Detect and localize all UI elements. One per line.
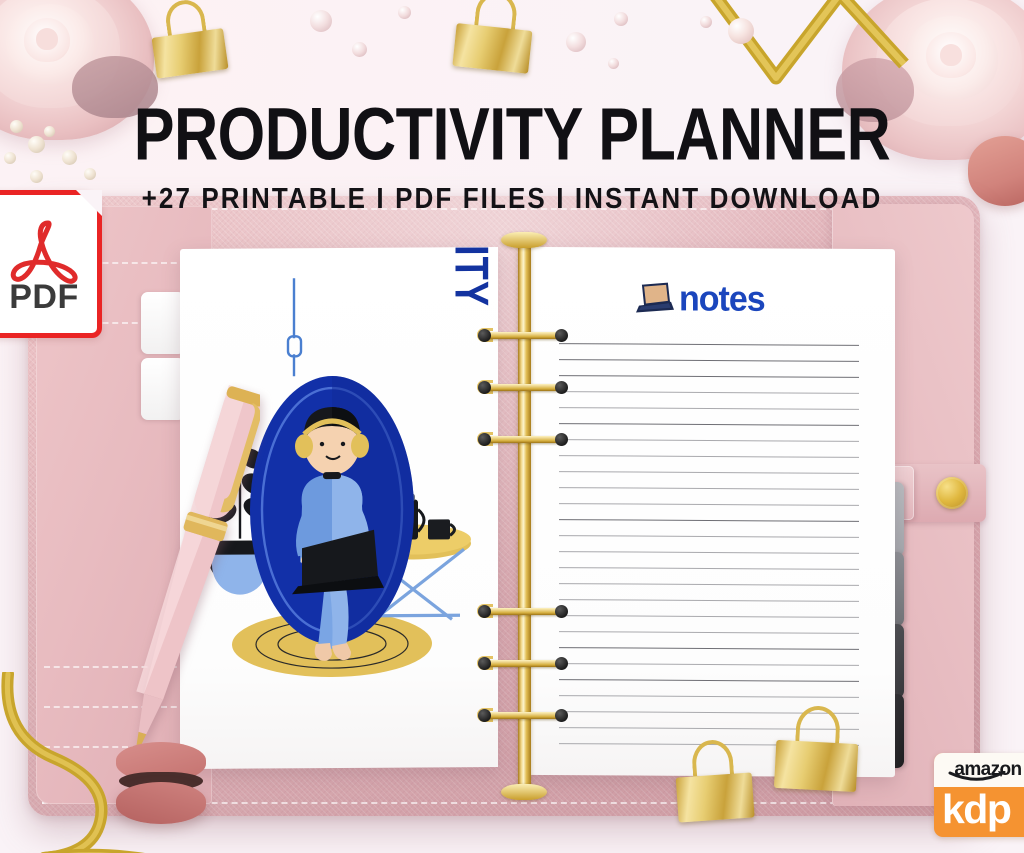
pdf-label: PDF bbox=[0, 278, 97, 317]
headline-block: PRODUCTIVITY PLANNER +27 PRINTABLE I PDF… bbox=[0, 98, 1024, 214]
notes-header: notes bbox=[633, 282, 765, 317]
amazon-smile-icon bbox=[948, 771, 1006, 783]
rule-line bbox=[559, 567, 859, 570]
rule-line bbox=[559, 583, 859, 586]
rule-line bbox=[559, 407, 859, 410]
notes-label: notes bbox=[679, 281, 765, 317]
ring-cap bbox=[555, 433, 568, 446]
pearl bbox=[310, 10, 332, 32]
gold-binder-clip-bottom-2 bbox=[774, 706, 860, 792]
ring-cap bbox=[555, 329, 568, 342]
macaron-bottom-left bbox=[116, 742, 206, 826]
ring-bar bbox=[485, 660, 561, 667]
ring-cap bbox=[478, 381, 491, 394]
binder-ring bbox=[477, 380, 569, 395]
laptop-icon bbox=[633, 282, 675, 316]
ring-bar bbox=[485, 436, 561, 443]
pearl bbox=[566, 32, 586, 52]
page-fold-corner bbox=[76, 190, 102, 216]
mockup-canvas: PRODUCTIVITY PLANNER +27 PRINTABLE I PDF… bbox=[0, 0, 1024, 853]
ring-cap bbox=[478, 329, 491, 342]
binder-ring bbox=[477, 656, 569, 671]
kdp-wordmark-row: kdp bbox=[934, 787, 1024, 837]
binder-ring bbox=[477, 708, 569, 723]
amazon-logo: amazon bbox=[934, 753, 1024, 787]
rule-line bbox=[559, 423, 859, 426]
divider-tab-white[interactable] bbox=[141, 292, 185, 354]
pearl bbox=[614, 12, 628, 26]
rule-line bbox=[559, 375, 859, 378]
rule-line bbox=[559, 359, 859, 362]
rule-line bbox=[559, 535, 859, 538]
ring-cap bbox=[555, 605, 568, 618]
ring-bar bbox=[485, 332, 561, 339]
rule-line bbox=[559, 599, 859, 602]
ring-cap bbox=[478, 605, 491, 618]
pearl bbox=[728, 18, 754, 44]
rule-line bbox=[559, 663, 859, 666]
ring-cap bbox=[478, 709, 491, 722]
amazon-kdp-badge[interactable]: amazon kdp bbox=[934, 753, 1024, 837]
ring-bar bbox=[485, 712, 561, 719]
spine-cap-bottom bbox=[501, 784, 547, 800]
rule-line bbox=[559, 615, 859, 618]
page-subtitle: +27 PRINTABLE I PDF FILES I INSTANT DOWN… bbox=[0, 181, 1024, 216]
rule-line bbox=[559, 631, 859, 634]
rule-line bbox=[559, 391, 859, 394]
spine-cap-top bbox=[501, 232, 547, 248]
rule-line bbox=[559, 503, 859, 506]
pearl bbox=[700, 16, 712, 28]
pearl bbox=[352, 42, 367, 57]
binder-ring bbox=[477, 432, 569, 447]
kdp-wordmark: kdp bbox=[942, 789, 1010, 830]
ring-cap bbox=[478, 433, 491, 446]
ring-cap bbox=[555, 709, 568, 722]
binder-ring-mechanism bbox=[471, 238, 577, 794]
pearl bbox=[608, 58, 619, 69]
rule-line bbox=[559, 679, 859, 682]
ring-cap bbox=[555, 657, 568, 670]
ring-bar bbox=[485, 608, 561, 615]
binder-ring bbox=[477, 604, 569, 619]
rule-line bbox=[559, 551, 859, 554]
notes-page: notes bbox=[523, 247, 895, 777]
rule-line bbox=[559, 439, 859, 442]
rule-line bbox=[559, 471, 859, 474]
ring-cap bbox=[555, 381, 568, 394]
binder-ring bbox=[477, 328, 569, 343]
rule-line bbox=[559, 519, 859, 522]
rule-line bbox=[559, 695, 859, 698]
gold-binder-clip-top-left bbox=[147, 0, 228, 79]
gold-binder-clip-bottom-1 bbox=[673, 739, 754, 822]
rule-line bbox=[559, 455, 859, 458]
pearl bbox=[398, 6, 411, 19]
pdf-badge[interactable]: PDF bbox=[0, 190, 102, 338]
gold-binder-clip-top-center bbox=[452, 0, 535, 74]
rule-line bbox=[559, 343, 859, 346]
rule-line bbox=[559, 647, 859, 650]
snap-button[interactable] bbox=[936, 477, 968, 509]
ring-bar bbox=[485, 384, 561, 391]
ring-cap bbox=[478, 657, 491, 670]
rule-line bbox=[559, 487, 859, 490]
page-title: PRODUCTIVITY PLANNER bbox=[15, 98, 1008, 172]
notes-ruled-lines bbox=[559, 343, 859, 761]
